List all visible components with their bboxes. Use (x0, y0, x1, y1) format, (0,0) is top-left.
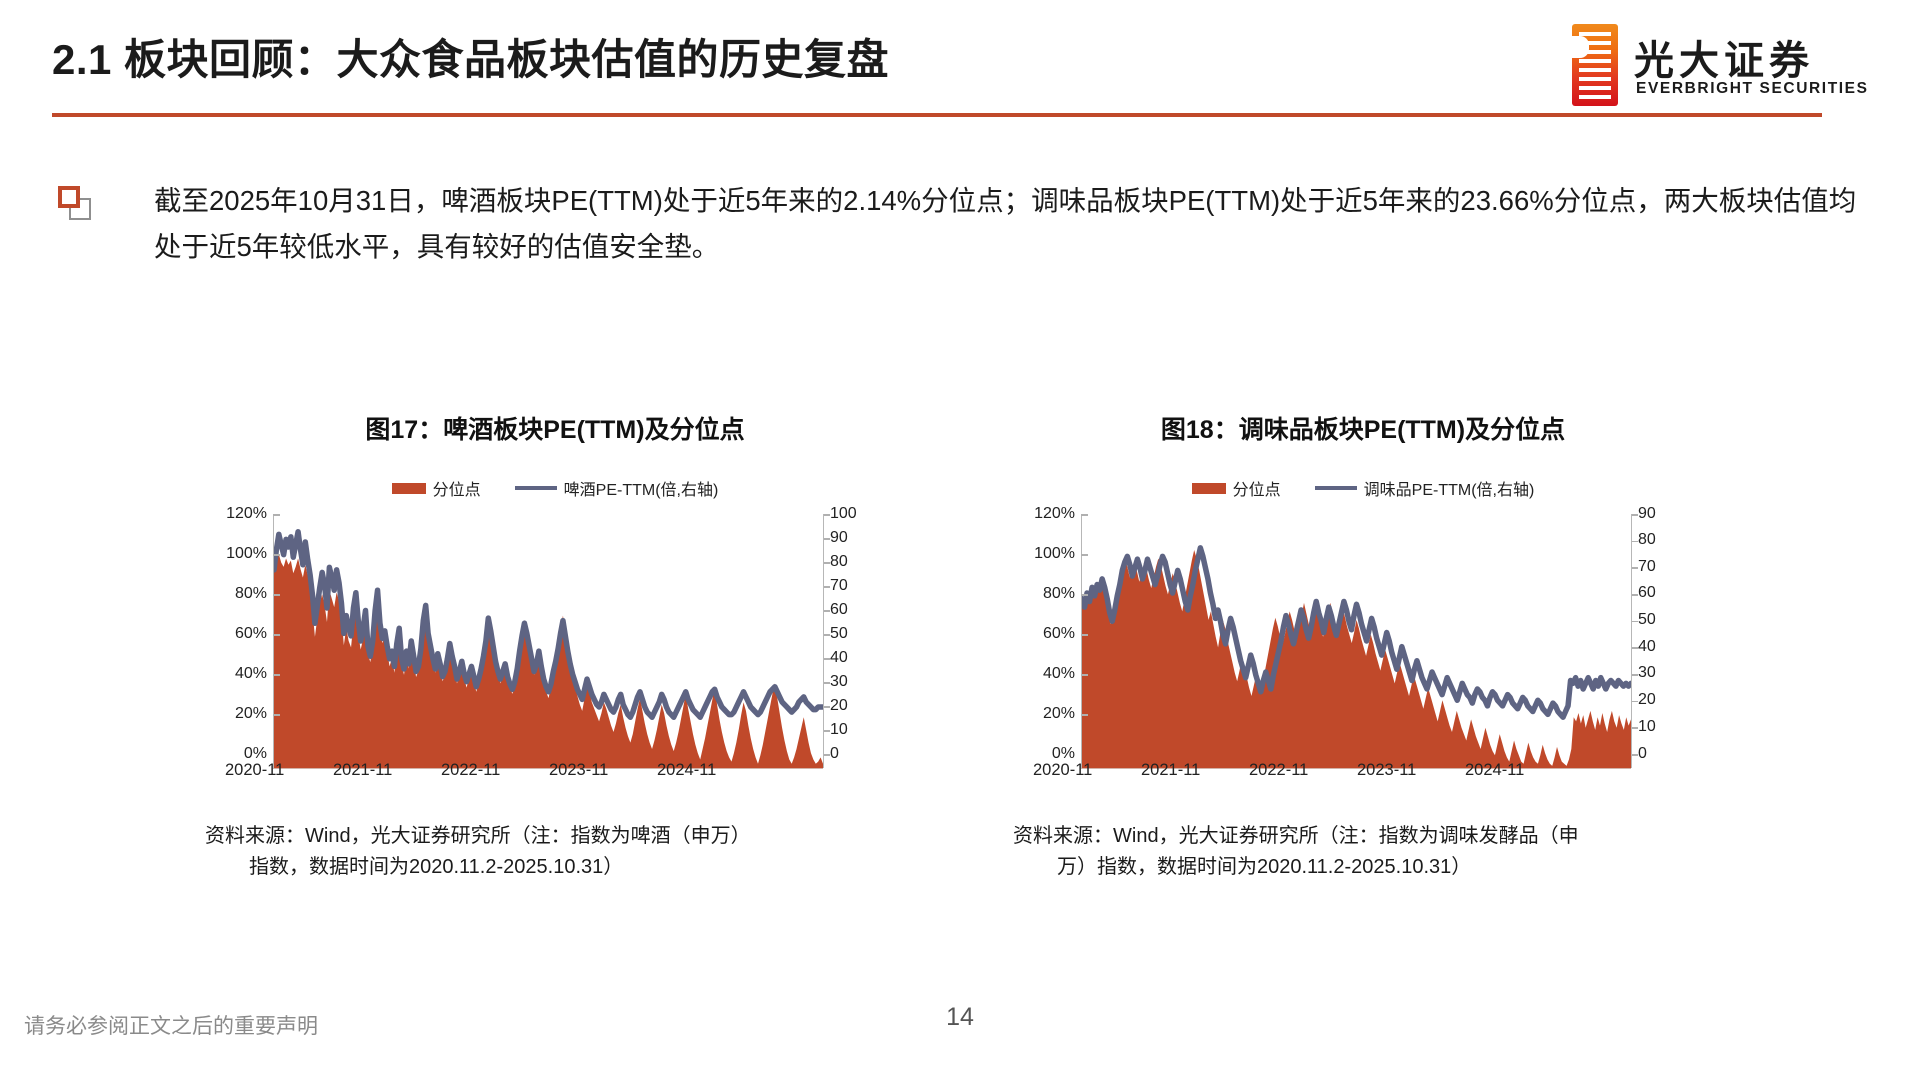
y2tick-17-20: 20 (830, 697, 870, 715)
chart-source-18: 资料来源：Wind，光大证券研究所（注：指数为调味发酵品（申 万）指数，数据时间… (1013, 821, 1713, 883)
ytick-17-40: 40% (205, 665, 267, 683)
ytick-18-20: 20% (1013, 705, 1075, 723)
chart-source-18-line2: 万）指数，数据时间为2020.11.2-2025.10.31） (1013, 852, 1713, 883)
xtick-18-2: 2022-11 (1249, 761, 1308, 780)
title-divider (52, 113, 1822, 117)
y2tick-17-60: 60 (830, 601, 870, 619)
chart-source-17: 资料来源：Wind，光大证券研究所（注：指数为啤酒（申万） 指数，数据时间为20… (205, 821, 905, 883)
ytick-18-100: 100% (1013, 545, 1075, 563)
summary-text: 截至2025年10月31日，啤酒板块PE(TTM)处于近5年来的2.14%分位点… (154, 178, 1858, 270)
logo-chinese-name: 光大证券 (1634, 28, 1814, 86)
square-bullet-icon (58, 186, 92, 220)
ytick-17-100: 100% (205, 545, 267, 563)
page-title: 2.1 板块回顾：大众食品板块估值的历史复盘 (52, 26, 889, 87)
y2tick-17-50: 50 (830, 625, 870, 643)
chart-title-17: 图17：啤酒板块PE(TTM)及分位点 (205, 410, 905, 446)
y2tick-18-30: 30 (1638, 664, 1678, 682)
legend-label-pe: 啤酒PE-TTM(倍,右轴) (564, 476, 719, 500)
legend-item-pe-2: 调味品PE-TTM(倍,右轴) (1315, 476, 1535, 500)
legend-item-pe: 啤酒PE-TTM(倍,右轴) (515, 476, 719, 500)
chart-title-18: 图18：调味品板块PE(TTM)及分位点 (1013, 410, 1713, 446)
chart-canvas-17 (273, 514, 823, 769)
chart-legend-17: 分位点 啤酒PE-TTM(倍,右轴) (205, 476, 905, 500)
page-header: 2.1 板块回顾：大众食品板块估值的历史复盘 光大证券 EVERBRIGHT S… (0, 0, 1920, 125)
chart-plot-area-18: 120% 100% 80% 60% 40% 20% 0% 90 80 70 60… (1013, 514, 1713, 769)
ytick-18-80: 80% (1013, 585, 1075, 603)
xtick-18-1: 2021-11 (1141, 761, 1200, 780)
y2tick-17-70: 70 (830, 577, 870, 595)
xtick-17-3: 2023-11 (549, 761, 608, 780)
legend-label-percentile: 分位点 (433, 476, 481, 500)
chart-panel-beer: 图17：啤酒板块PE(TTM)及分位点 分位点 啤酒PE-TTM(倍,右轴) 1… (205, 410, 905, 883)
y2tick-17-100: 100 (830, 505, 870, 523)
y2tick-18-10: 10 (1638, 718, 1678, 736)
y2tick-17-90: 90 (830, 529, 870, 547)
y2tick-18-80: 80 (1638, 531, 1678, 549)
y2tick-17-80: 80 (830, 553, 870, 571)
y2tick-17-0: 0 (830, 745, 870, 763)
legend-item-percentile-2: 分位点 (1192, 476, 1281, 500)
logo-english-name: EVERBRIGHT SECURITIES (1636, 80, 1869, 98)
legend-swatch-area-icon (392, 483, 426, 494)
legend-label-pe-2: 调味品PE-TTM(倍,右轴) (1364, 476, 1535, 500)
xtick-17-0: 2020-11 (225, 761, 284, 780)
ytick-18-120: 120% (1013, 505, 1075, 523)
legend-swatch-line-icon (1315, 486, 1357, 490)
legend-swatch-line-icon (515, 486, 557, 490)
y2tick-18-50: 50 (1638, 611, 1678, 629)
legend-swatch-area-icon (1192, 483, 1226, 494)
everbright-logo-icon (1572, 24, 1618, 106)
y2tick-18-40: 40 (1638, 638, 1678, 656)
y2tick-18-70: 70 (1638, 558, 1678, 576)
summary-bullet: 截至2025年10月31日，啤酒板块PE(TTM)处于近5年来的2.14%分位点… (58, 178, 1858, 270)
ytick-18-60: 60% (1013, 625, 1075, 643)
xtick-17-4: 2024-11 (657, 761, 716, 780)
y2tick-18-0: 0 (1638, 745, 1678, 763)
chart-source-17-line1: 资料来源：Wind，光大证券研究所（注：指数为啤酒（申万） (205, 825, 751, 847)
y2tick-17-40: 40 (830, 649, 870, 667)
ytick-17-20: 20% (205, 705, 267, 723)
ytick-17-120: 120% (205, 505, 267, 523)
ytick-17-80: 80% (205, 585, 267, 603)
ytick-18-40: 40% (1013, 665, 1075, 683)
page-number: 14 (0, 1003, 1920, 1032)
chart-source-17-line2: 指数，数据时间为2020.11.2-2025.10.31） (205, 852, 905, 883)
y2tick-18-90: 90 (1638, 505, 1678, 523)
xtick-18-0: 2020-11 (1033, 761, 1092, 780)
chart-source-18-line1: 资料来源：Wind，光大证券研究所（注：指数为调味发酵品（申 (1013, 825, 1579, 847)
y2tick-17-30: 30 (830, 673, 870, 691)
chart-panel-seasoning: 图18：调味品板块PE(TTM)及分位点 分位点 调味品PE-TTM(倍,右轴)… (1013, 410, 1713, 883)
xtick-18-4: 2024-11 (1465, 761, 1524, 780)
xtick-17-1: 2021-11 (333, 761, 392, 780)
y2tick-18-20: 20 (1638, 691, 1678, 709)
ytick-17-60: 60% (205, 625, 267, 643)
xtick-17-2: 2022-11 (441, 761, 500, 780)
chart-plot-area-17: 120% 100% 80% 60% 40% 20% 0% 100 90 80 7… (205, 514, 905, 769)
legend-item-percentile: 分位点 (392, 476, 481, 500)
chart-canvas-18 (1081, 514, 1631, 769)
y2tick-18-60: 60 (1638, 584, 1678, 602)
chart-legend-18: 分位点 调味品PE-TTM(倍,右轴) (1013, 476, 1713, 500)
y2tick-17-10: 10 (830, 721, 870, 739)
xtick-18-3: 2023-11 (1357, 761, 1416, 780)
brand-logo: 光大证券 EVERBRIGHT SECURITIES (1572, 24, 1872, 106)
legend-label-percentile-2: 分位点 (1233, 476, 1281, 500)
